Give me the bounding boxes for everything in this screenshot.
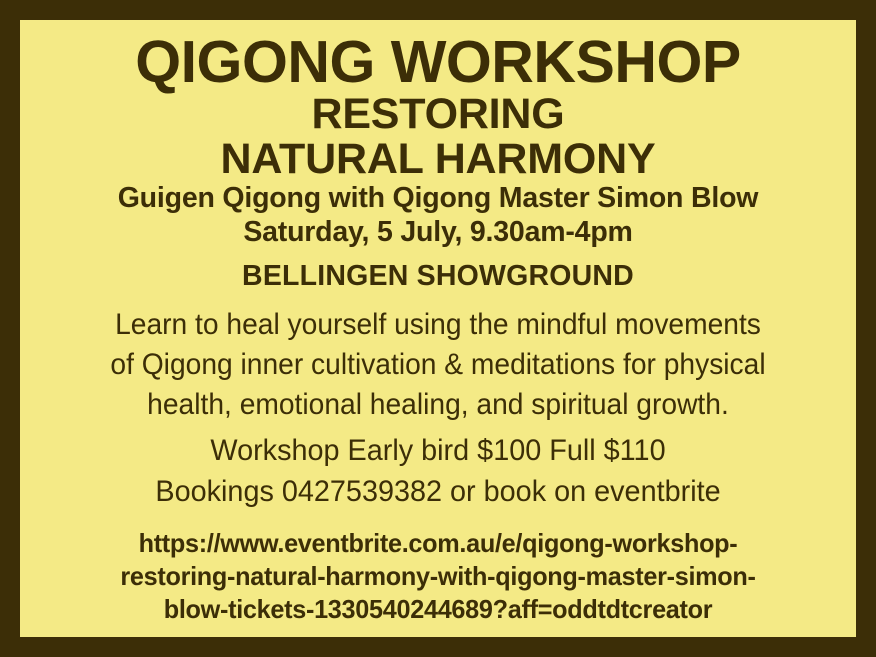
poster-content-area: QIGONG WORKSHOP RESTORING NATURAL HARMON… [20, 20, 856, 637]
poster-title-secondary-line-1: RESTORING [20, 92, 856, 137]
description-line-1: Learn to heal yourself using the mindful… [45, 305, 831, 345]
description-line-3: health, emotional healing, and spiritual… [45, 385, 831, 425]
poster-title-secondary-line-2: NATURAL HARMONY [20, 137, 856, 182]
eventbrite-url-line-2: restoring-natural-harmony-with-qigong-ma… [33, 560, 844, 593]
pricing-text: Workshop Early bird $100 Full $110 [37, 431, 840, 472]
description-block: Learn to heal yourself using the mindful… [20, 305, 856, 425]
bookings-text: Bookings 0427539382 or book on eventbrit… [37, 472, 840, 513]
pricing-block: Workshop Early bird $100 Full $110 Booki… [20, 431, 856, 513]
eventbrite-url-line-3: blow-tickets-1330540244689?aff=oddtdtcre… [33, 593, 844, 626]
poster-advertisement: QIGONG WORKSHOP RESTORING NATURAL HARMON… [0, 0, 876, 657]
event-datetime: Saturday, 5 July, 9.30am-4pm [20, 216, 856, 249]
presenter-text: Guigen Qigong with Qigong Master Simon B… [20, 182, 856, 215]
poster-title-primary: QIGONG WORKSHOP [20, 32, 856, 92]
description-line-2: of Qigong inner cultivation & meditation… [45, 345, 831, 385]
eventbrite-url-block[interactable]: https://www.eventbrite.com.au/e/qigong-w… [20, 527, 856, 626]
event-venue: BELLINGEN SHOWGROUND [20, 259, 856, 293]
eventbrite-url-line-1: https://www.eventbrite.com.au/e/qigong-w… [33, 527, 844, 560]
